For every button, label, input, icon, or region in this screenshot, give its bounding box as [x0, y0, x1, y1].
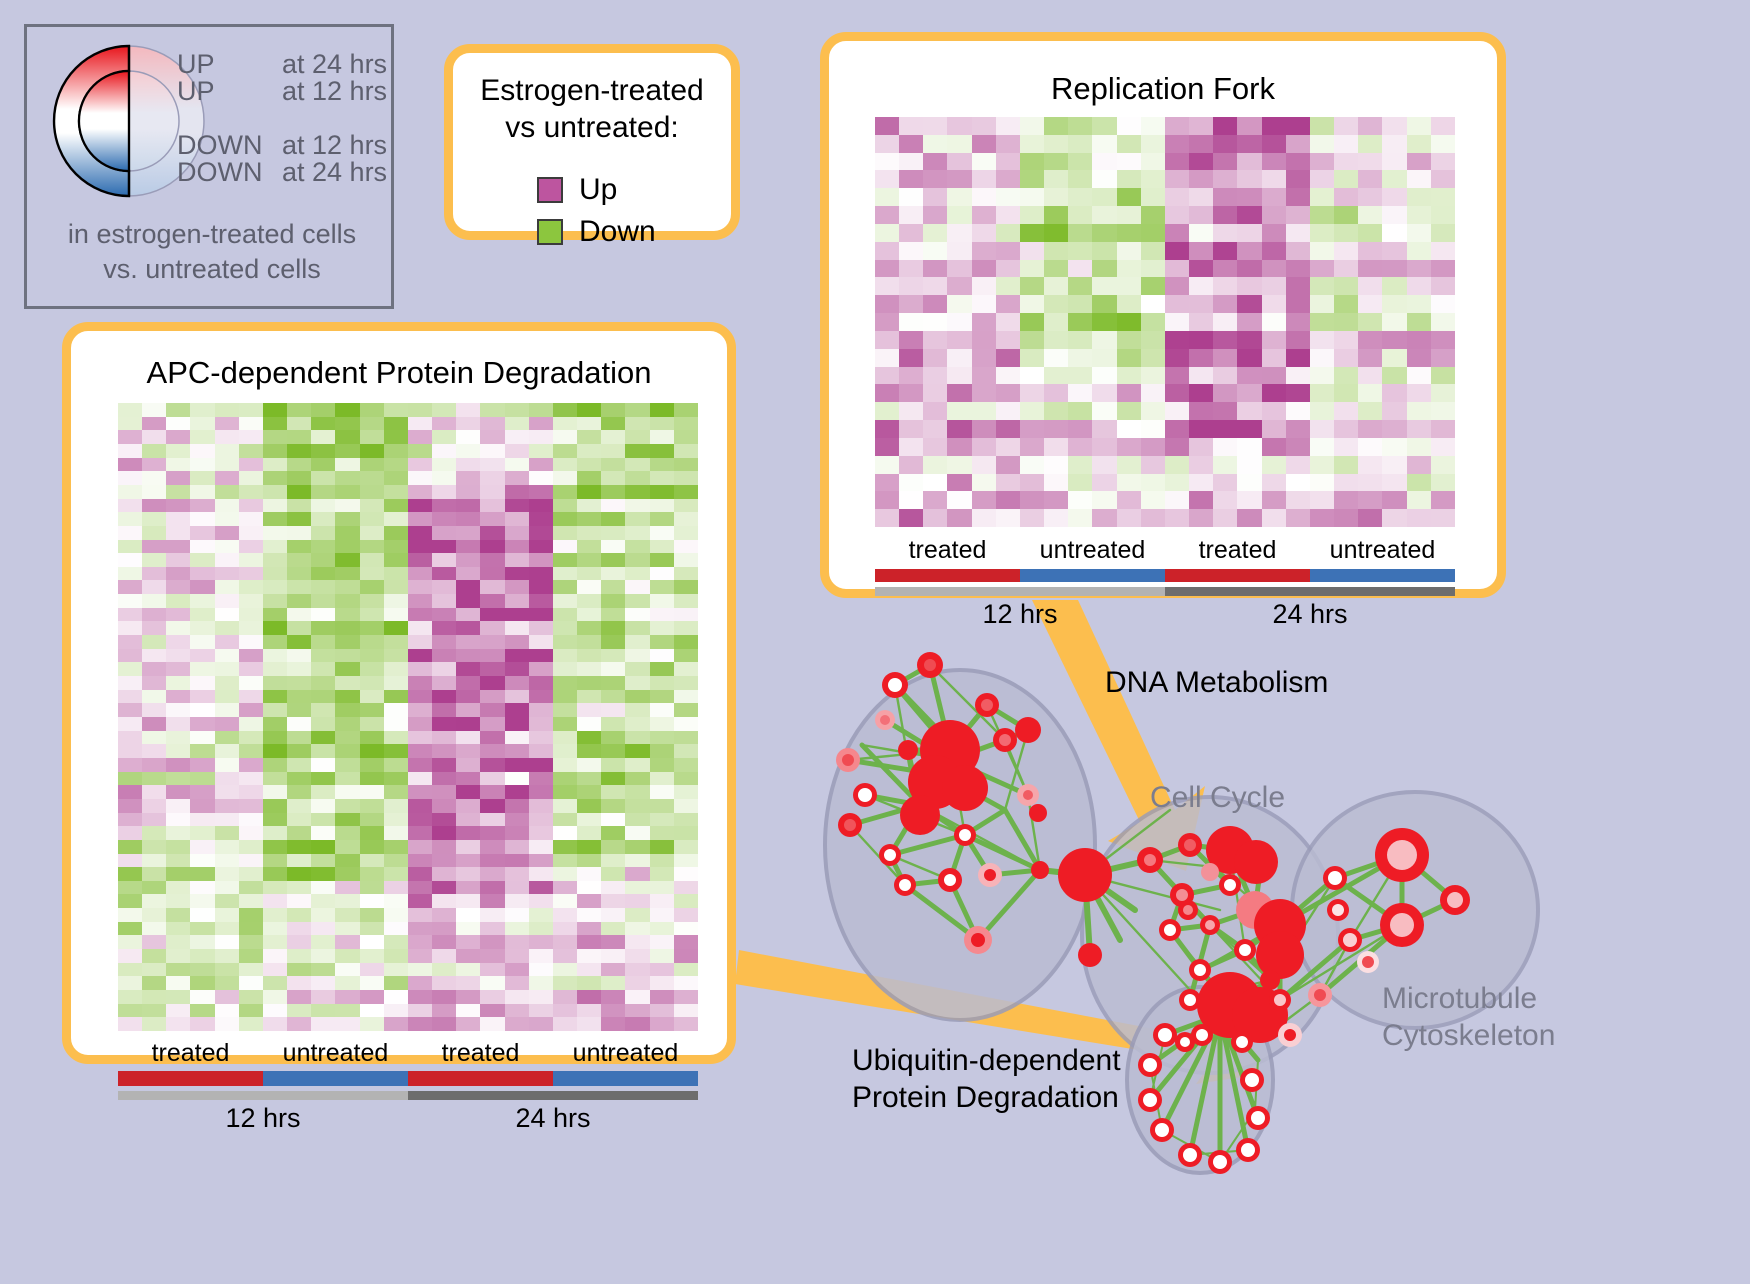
- heatmap-cell: [335, 935, 359, 949]
- heatmap-cell: [432, 854, 456, 868]
- heatmap-cell: [1068, 349, 1092, 367]
- heatmap-cell: [1334, 402, 1358, 420]
- heatmap-cell: [1189, 260, 1213, 278]
- heatmap-cell: [505, 840, 529, 854]
- heatmap-cell: [529, 908, 553, 922]
- heatmap-cell: [1141, 331, 1165, 349]
- heatmap-cell: [384, 485, 408, 499]
- heatmap-cell: [899, 277, 923, 295]
- heatmap-cell: [650, 854, 674, 868]
- heatmap-cell: [190, 676, 214, 690]
- heatmap-cell: [553, 976, 577, 990]
- heatmap-cell: [215, 621, 239, 635]
- heatmap-cell: [1092, 153, 1116, 171]
- heatmap-cell: [190, 1004, 214, 1018]
- heatmap-cell: [239, 1004, 263, 1018]
- heatmap-cell: [674, 690, 698, 704]
- heatmap-cell: [384, 540, 408, 554]
- heatmap-cell: [529, 990, 553, 1004]
- heatmap-cell: [553, 540, 577, 554]
- heatmap-cell: [166, 908, 190, 922]
- heatmap-cell: [384, 990, 408, 1004]
- updown-legend-panel: Estrogen-treated vs untreated: Up Down: [444, 44, 740, 240]
- heatmap-cell: [1117, 260, 1141, 278]
- heatmap-cell: [142, 867, 166, 881]
- heatmap-cell: [215, 935, 239, 949]
- heatmap-cell: [142, 976, 166, 990]
- heatmap-cell: [996, 384, 1020, 402]
- heatmap-cell: [311, 717, 335, 731]
- heatmap-cell: [1141, 277, 1165, 295]
- heatmap-cell: [239, 485, 263, 499]
- heatmap-cell: [1334, 438, 1358, 456]
- heatmap-cell: [142, 458, 166, 472]
- heatmap-cell: [650, 963, 674, 977]
- heatmap-cell: [142, 430, 166, 444]
- heatmap-cell: [1165, 331, 1189, 349]
- heatmap-cell: [239, 772, 263, 786]
- heatmap-cell: [674, 922, 698, 936]
- heatmap-cell: [1310, 474, 1334, 492]
- heatmap-cell: [408, 963, 432, 977]
- heatmap-cell: [1213, 277, 1237, 295]
- heatmap-cell: [1237, 153, 1261, 171]
- heatmap-cell: [215, 485, 239, 499]
- heatmap-cell: [947, 313, 971, 331]
- heatmap-cell: [215, 826, 239, 840]
- heatmap-cell: [263, 635, 287, 649]
- heatmap-cell: [456, 840, 480, 854]
- heatmap-cell: [360, 772, 384, 786]
- heatmap-cell: [625, 580, 649, 594]
- heatmap-cell: [360, 717, 384, 731]
- bar-segment: [408, 1071, 553, 1086]
- heatmap-cell: [601, 1017, 625, 1031]
- heatmap-cell: [263, 840, 287, 854]
- heatmap-cell: [947, 224, 971, 242]
- heatmap-cell: [408, 499, 432, 513]
- heatmap-cell: [625, 690, 649, 704]
- heatmap-cell: [601, 526, 625, 540]
- heatmap-cell: [311, 772, 335, 786]
- heatmap-cell: [923, 188, 947, 206]
- heatmap-cell: [601, 540, 625, 554]
- heatmap-cell: [1213, 331, 1237, 349]
- heatmap-cell: [674, 935, 698, 949]
- heatmap-cell: [263, 662, 287, 676]
- heatmap-cell: [625, 676, 649, 690]
- heatmap-cell: [263, 867, 287, 881]
- heatmap-cell: [456, 676, 480, 690]
- heatmap-cell: [1358, 509, 1382, 527]
- heatmap-cell: [384, 826, 408, 840]
- heatmap-cell: [1237, 295, 1261, 313]
- heatmap-cell: [311, 854, 335, 868]
- heatmap-cell: [650, 621, 674, 635]
- heatmap-cell: [335, 1017, 359, 1031]
- heatmap-cell: [1020, 135, 1044, 153]
- heatmap-cell: [311, 526, 335, 540]
- heatmap-cell: [142, 826, 166, 840]
- heatmap-cell: [335, 458, 359, 472]
- replication-fork-time-labels: 12 hrs 24 hrs: [875, 599, 1455, 630]
- heatmap-cell: [1189, 224, 1213, 242]
- heatmap-cell: [408, 976, 432, 990]
- heatmap-cell: [311, 785, 335, 799]
- heatmap-cell: [311, 485, 335, 499]
- heatmap-cell: [456, 403, 480, 417]
- heatmap-cell: [480, 580, 504, 594]
- heatmap-cell: [601, 430, 625, 444]
- heatmap-cell: [360, 881, 384, 895]
- heatmap-cell: [899, 491, 923, 509]
- heatmap-cell: [1382, 420, 1406, 438]
- heatmap-cell: [1092, 242, 1116, 260]
- heatmap-cell: [166, 867, 190, 881]
- heatmap-cell: [263, 580, 287, 594]
- heatmap-cell: [1165, 509, 1189, 527]
- heatmap-cell: [625, 949, 649, 963]
- heatmap-cell: [996, 402, 1020, 420]
- heatmap-cell: [287, 772, 311, 786]
- heatmap-cell: [625, 458, 649, 472]
- heatmap-cell: [480, 826, 504, 840]
- heatmap-cell: [1117, 117, 1141, 135]
- heatmap-cell: [118, 662, 142, 676]
- heatmap-cell: [1092, 349, 1116, 367]
- heatmap-cell: [923, 420, 947, 438]
- heatmap-cell: [384, 635, 408, 649]
- heatmap-cell: [601, 1004, 625, 1018]
- heatmap-cell: [166, 553, 190, 567]
- heatmap-cell: [923, 117, 947, 135]
- heatmap-cell: [335, 744, 359, 758]
- heatmap-cell: [384, 417, 408, 431]
- heatmap-cell: [529, 621, 553, 635]
- heatmap-cell: [118, 1017, 142, 1031]
- heatmap-cell: [360, 526, 384, 540]
- heatmap-cell: [166, 444, 190, 458]
- heatmap-cell: [118, 444, 142, 458]
- heatmap-cell: [1334, 260, 1358, 278]
- heatmap-cell: [923, 331, 947, 349]
- heatmap-cell: [480, 621, 504, 635]
- heatmap-cell: [947, 170, 971, 188]
- heatmap-cell: [947, 349, 971, 367]
- heatmap-cell: [263, 403, 287, 417]
- heatmap-cell: [553, 935, 577, 949]
- heatmap-cell: [1237, 491, 1261, 509]
- heatmap-cell: [1165, 242, 1189, 260]
- heatmap-cell: [529, 949, 553, 963]
- heatmap-cell: [505, 471, 529, 485]
- heatmap-cell: [384, 731, 408, 745]
- heatmap-cell: [384, 935, 408, 949]
- heatmap-cell: [190, 621, 214, 635]
- heatmap-cell: [142, 785, 166, 799]
- heatmap-cell: [947, 117, 971, 135]
- heatmap-cell: [1407, 295, 1431, 313]
- heatmap-cell: [947, 491, 971, 509]
- heatmap-cell: [553, 471, 577, 485]
- heatmap-cell: [1286, 349, 1310, 367]
- heatmap-cell: [553, 799, 577, 813]
- heatmap-cell: [650, 772, 674, 786]
- heatmap-cell: [553, 963, 577, 977]
- heatmap-cell: [118, 1004, 142, 1018]
- replication-fork-treatment-bar: [875, 569, 1455, 582]
- heatmap-cell: [384, 430, 408, 444]
- heatmap-cell: [360, 621, 384, 635]
- heatmap-cell: [674, 717, 698, 731]
- heatmap-cell: [142, 526, 166, 540]
- heatmap-cell: [239, 894, 263, 908]
- heatmap-cell: [335, 854, 359, 868]
- heatmap-cell: [875, 277, 899, 295]
- heatmap-cell: [1358, 384, 1382, 402]
- heatmap-cell: [650, 785, 674, 799]
- heatmap-cell: [529, 499, 553, 513]
- heatmap-cell: [456, 662, 480, 676]
- heatmap-cell: [577, 799, 601, 813]
- heatmap-cell: [1044, 313, 1068, 331]
- heatmap-cell: [601, 799, 625, 813]
- heatmap-cell: [1092, 438, 1116, 456]
- heatmap-cell: [947, 206, 971, 224]
- heatmap-cell: [263, 854, 287, 868]
- heatmap-cell: [166, 635, 190, 649]
- heatmap-cell: [190, 1017, 214, 1031]
- heatmap-cell: [553, 717, 577, 731]
- heatmap-cell: [335, 976, 359, 990]
- heatmap-cell: [875, 349, 899, 367]
- heatmap-cell: [1141, 420, 1165, 438]
- heatmap-cell: [1068, 402, 1092, 420]
- heatmap-cell: [480, 758, 504, 772]
- heatmap-cell: [1382, 384, 1406, 402]
- heatmap-cell: [1262, 438, 1286, 456]
- heatmap-cell: [1092, 313, 1116, 331]
- heatmap-cell: [360, 458, 384, 472]
- heatmap-cell: [311, 894, 335, 908]
- heatmap-cell: [360, 854, 384, 868]
- heatmap-cell: [118, 499, 142, 513]
- heatmap-cell: [529, 662, 553, 676]
- heatmap-cell: [1237, 456, 1261, 474]
- heatmap-cell: [384, 458, 408, 472]
- heatmap-cell: [1020, 170, 1044, 188]
- heatmap-cell: [456, 867, 480, 881]
- heatmap-cell: [190, 499, 214, 513]
- heatmap-cell: [1286, 367, 1310, 385]
- heatmap-cell: [384, 1017, 408, 1031]
- heatmap-cell: [505, 799, 529, 813]
- heatmap-cell: [384, 717, 408, 731]
- heatmap-cell: [360, 635, 384, 649]
- heatmap-cell: [360, 690, 384, 704]
- heatmap-cell: [239, 635, 263, 649]
- heatmap-cell: [650, 580, 674, 594]
- heatmap-cell: [311, 540, 335, 554]
- heatmap-cell: [311, 553, 335, 567]
- heatmap-cell: [1431, 206, 1455, 224]
- heatmap-cell: [1382, 509, 1406, 527]
- heatmap-cell: [625, 731, 649, 745]
- heatmap-cell: [625, 772, 649, 786]
- heatmap-cell: [529, 922, 553, 936]
- heatmap-cell: [1092, 331, 1116, 349]
- heatmap-cell: [1044, 135, 1068, 153]
- heatmap-cell: [408, 580, 432, 594]
- heatmap-cell: [480, 854, 504, 868]
- heatmap-cell: [456, 908, 480, 922]
- heatmap-cell: [996, 135, 1020, 153]
- heatmap-cell: [1286, 331, 1310, 349]
- heatmap-cell: [1141, 117, 1165, 135]
- heatmap-cell: [996, 242, 1020, 260]
- heatmap-cell: [1068, 135, 1092, 153]
- heatmap-cell: [650, 485, 674, 499]
- heatmap-cell: [190, 772, 214, 786]
- heatmap-cell: [190, 580, 214, 594]
- heatmap-cell: [650, 676, 674, 690]
- heatmap-cell: [529, 553, 553, 567]
- heatmap-cell: [432, 826, 456, 840]
- heatmap-cell: [1165, 295, 1189, 313]
- heatmap-cell: [408, 690, 432, 704]
- heatmap-cell: [650, 949, 674, 963]
- heatmap-cell: [1310, 260, 1334, 278]
- heatmap-cell: [1334, 242, 1358, 260]
- heatmap-cell: [1020, 188, 1044, 206]
- heatmap-cell: [899, 402, 923, 420]
- heatmap-cell: [1358, 260, 1382, 278]
- heatmap-cell: [1262, 260, 1286, 278]
- heatmap-cell: [875, 206, 899, 224]
- heatmap-cell: [1165, 474, 1189, 492]
- heatmap-cell: [625, 499, 649, 513]
- heatmap-cell: [875, 367, 899, 385]
- heatmap-cell: [1407, 438, 1431, 456]
- heatmap-cell: [456, 731, 480, 745]
- heatmap-cell: [239, 990, 263, 1004]
- heatmap-cell: [239, 621, 263, 635]
- heatmap-cell: [1286, 188, 1310, 206]
- heatmap-cell: [239, 499, 263, 513]
- heatmap-cell: [480, 567, 504, 581]
- heatmap-cell: [899, 331, 923, 349]
- heatmap-cell: [1286, 135, 1310, 153]
- heatmap-cell: [287, 963, 311, 977]
- heatmap-cell: [899, 242, 923, 260]
- heatmap-cell: [311, 1017, 335, 1031]
- time-label: 12 hrs: [875, 599, 1165, 630]
- heatmap-cell: [650, 512, 674, 526]
- heatmap-cell: [360, 1017, 384, 1031]
- heatmap-cell: [1189, 153, 1213, 171]
- heatmap-cell: [875, 313, 899, 331]
- heatmap-cell: [1044, 331, 1068, 349]
- heatmap-cell: [142, 990, 166, 1004]
- heatmap-cell: [650, 458, 674, 472]
- heatmap-cell: [1068, 313, 1092, 331]
- heatmap-cell: [456, 553, 480, 567]
- heatmap-cell: [1213, 420, 1237, 438]
- heatmap-cell: [215, 690, 239, 704]
- heatmap-cell: [1262, 456, 1286, 474]
- heatmap-cell: [215, 772, 239, 786]
- heatmap-cell: [1141, 509, 1165, 527]
- heatmap-cell: [432, 553, 456, 567]
- heatmap-cell: [1189, 474, 1213, 492]
- heatmap-cell: [456, 690, 480, 704]
- heatmap-cell: [996, 153, 1020, 171]
- heatmap-cell: [650, 908, 674, 922]
- time-label: 24 hrs: [408, 1103, 698, 1134]
- heatmap-cell: [899, 135, 923, 153]
- heatmap-cell: [577, 417, 601, 431]
- heatmap-cell: [505, 758, 529, 772]
- heatmap-cell: [360, 649, 384, 663]
- heatmap-cell: [215, 731, 239, 745]
- heatmap-cell: [1189, 206, 1213, 224]
- heatmap-cell: [625, 894, 649, 908]
- heatmap-cell: [311, 512, 335, 526]
- heatmap-cell: [480, 430, 504, 444]
- heatmap-cell: [456, 717, 480, 731]
- heatmap-cell: [408, 567, 432, 581]
- heatmap-cell: [432, 744, 456, 758]
- heatmap-cell: [408, 731, 432, 745]
- heatmap-cell: [335, 676, 359, 690]
- heatmap-cell: [408, 908, 432, 922]
- heatmap-cell: [577, 444, 601, 458]
- heatmap-cell: [287, 512, 311, 526]
- heatmap-cell: [456, 949, 480, 963]
- heatmap-cell: [1382, 117, 1406, 135]
- heatmap-cell: [432, 662, 456, 676]
- heatmap-cell: [505, 881, 529, 895]
- heatmap-cell: [118, 990, 142, 1004]
- heatmap-cell: [118, 485, 142, 499]
- heatmap-cell: [1262, 402, 1286, 420]
- heatmap-cell: [239, 881, 263, 895]
- heatmap-cell: [408, 471, 432, 485]
- heatmap-cell: [1044, 188, 1068, 206]
- heatmap-cell: [190, 867, 214, 881]
- heatmap-cell: [505, 935, 529, 949]
- heatmap-cell: [674, 826, 698, 840]
- heatmap-cell: [118, 935, 142, 949]
- heatmap-cell: [1431, 509, 1455, 527]
- heatmap-cell: [601, 649, 625, 663]
- heatmap-cell: [1382, 402, 1406, 420]
- heatmap-cell: [215, 526, 239, 540]
- heatmap-cell: [190, 922, 214, 936]
- heatmap-cell: [1286, 438, 1310, 456]
- heatmap-cell: [650, 717, 674, 731]
- heatmap-cell: [1334, 135, 1358, 153]
- heatmap-cell: [239, 854, 263, 868]
- heatmap-cell: [118, 635, 142, 649]
- heatmap-cell: [166, 417, 190, 431]
- heatmap-cell: [166, 499, 190, 513]
- heatmap-cell: [1237, 135, 1261, 153]
- heatmap-cell: [456, 417, 480, 431]
- apc-group-labels: treated untreated treated untreated: [118, 1039, 698, 1068]
- heatmap-cell: [142, 594, 166, 608]
- heatmap-cell: [650, 758, 674, 772]
